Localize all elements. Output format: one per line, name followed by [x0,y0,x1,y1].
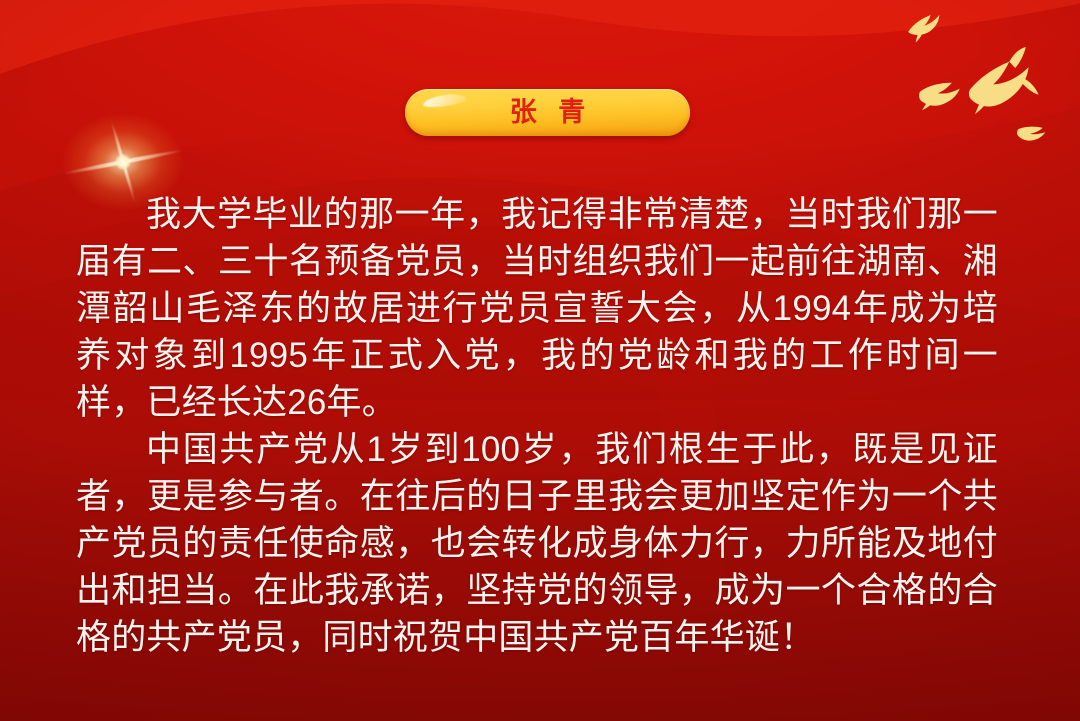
badge-highlight [422,92,467,110]
testimonial-body: 我大学毕业的那一年，我记得非常清楚，当时我们那一届有二、三十名预备党员，当时组织… [76,191,998,661]
testimonial-paragraph-1: 我大学毕业的那一年，我记得非常清楚，当时我们那一届有二、三十名预备党员，当时组织… [76,191,998,426]
testimonial-card: 张 青 我大学毕业的那一年，我记得非常清楚，当时我们那一届有二、三十名预备党员，… [0,0,1080,721]
speaker-name-badge[interactable]: 张 青 [405,89,690,136]
testimonial-paragraph-2: 中国共产党从1岁到100岁，我们根生于此，既是见证者，更是参与者。在往后的日子里… [76,426,998,661]
speaker-name-label: 张 青 [503,99,593,126]
